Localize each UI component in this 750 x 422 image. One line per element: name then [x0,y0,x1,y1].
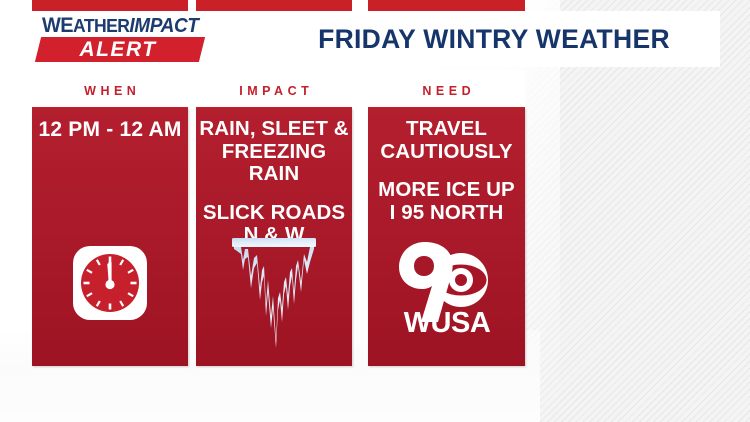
column-body-impact: RAIN, SLEET & FREEZING RAIN SLICK ROADS … [196,108,352,366]
column-header-label-when: WHEN [32,84,188,98]
need-line-4: I 95 NORTH [368,202,525,225]
text-spacer [368,163,525,179]
impact-line-1: RAIN, SLEET & [196,118,352,141]
impact-line-2: FREEZING RAIN [196,141,352,186]
call-letters-wordmark: WUSA [403,307,490,339]
column-text-need: TRAVEL CAUTIOUSLY MORE ICE UP I 95 NORTH [368,118,525,224]
headline-text: FRIDAY WINTRY WEATHER [268,24,720,55]
need-line-1: TRAVEL [368,118,525,141]
column-header-label-need: NEED [368,84,525,98]
weather-lead: WE [42,14,73,37]
headline-plate: FRIDAY WINTRY WEATHER [268,11,720,67]
weather-impact-alert-logo: WEATHERIMPACT ALERT [32,11,204,67]
column-body-need: TRAVEL CAUTIOUSLY MORE ICE UP I 95 NORTH [368,108,525,366]
clock-icon-wrap [32,246,188,320]
icicle-icon [226,236,322,348]
text-spacer [196,186,352,202]
need-line-3: MORE ICE UP [368,179,525,202]
wusa9-logo-icon: WUSA [391,236,503,340]
wusa9-logo-wrap: WUSA [368,236,525,340]
when-line-1: 12 PM - 12 AM [32,118,188,141]
icicle-icon-wrap [196,236,352,348]
column-text-when: 12 PM - 12 AM [32,118,188,141]
alert-word: ALERT [32,38,204,62]
column-text-impact: RAIN, SLEET & FREEZING RAIN SLICK ROADS … [196,118,352,247]
weather-impact-wordmark: WEATHERIMPACT [42,14,199,38]
column-top-bar [368,0,525,11]
column-body-when: 12 PM - 12 AM [32,108,188,366]
impact-word: IMPACT [129,15,198,37]
clock-icon [73,246,147,320]
need-line-2: CAUTIOUSLY [368,141,525,164]
impact-line-3: SLICK ROADS [196,202,352,225]
column-top-bar [196,0,352,11]
column-header-label-impact: IMPACT [196,84,352,98]
clock-icon-plate [73,246,147,320]
column-top-bar [32,0,188,11]
weather-rest: ATHER [73,15,129,36]
weather-alert-graphic: WHEN 12 PM - 12 AM [0,0,750,422]
